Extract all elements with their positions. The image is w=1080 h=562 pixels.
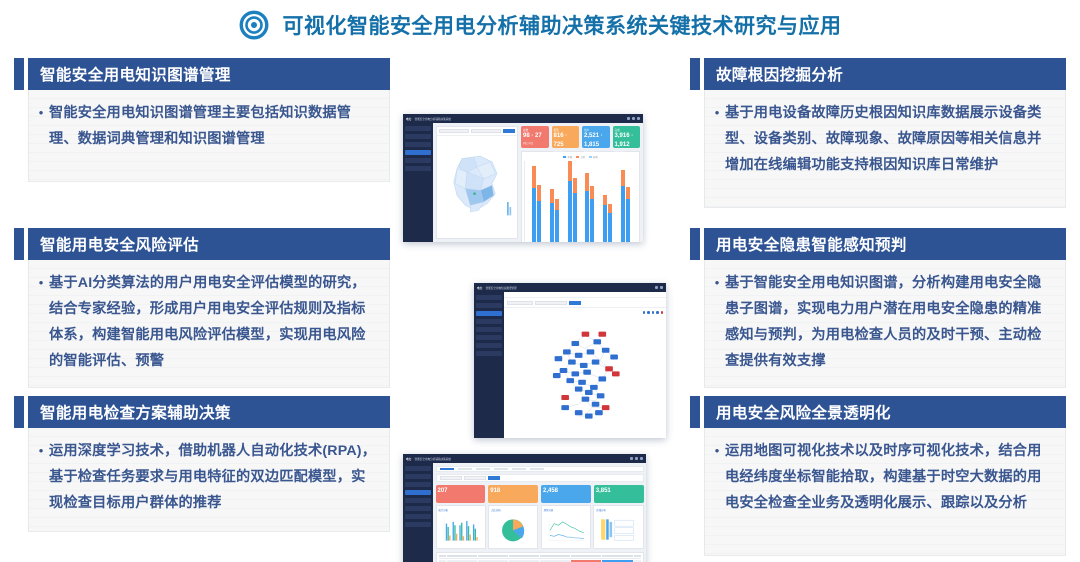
card-header: 故障根因挖掘分析 — [690, 58, 1066, 90]
kpi-sub: 同比 环比 — [523, 141, 547, 145]
card-hazard-smart-perception[interactable]: 用电安全隐患智能感知预判 • 基于智能安全用电知识图谱，分析构建用电安全隐患子图… — [690, 228, 1066, 388]
province-map[interactable] — [437, 136, 517, 238]
org-select[interactable] — [440, 476, 462, 480]
sidebar-item-5[interactable] — [405, 498, 431, 503]
sidebar-item-1[interactable] — [476, 295, 502, 300]
kpi-value: 2,521 · 1,815 — [584, 132, 608, 150]
line-chart[interactable]: 趋势分析 — [541, 505, 591, 549]
map-panel[interactable] — [436, 126, 518, 239]
bullet-icon: • — [33, 438, 49, 464]
bullet-icon: • — [33, 270, 49, 296]
card-titlebar: 用电安全风险全景透明化 — [704, 396, 1066, 428]
card-title: 用电安全隐患智能感知预判 — [716, 233, 907, 255]
grid-icon[interactable] — [655, 286, 658, 289]
card-header: 智能用电安全风险评估 — [14, 228, 390, 260]
card-title: 智能安全用电知识图谱管理 — [40, 63, 231, 85]
graph-canvas[interactable] — [504, 308, 666, 438]
kpi-value: 3,916 · 1,912 — [615, 132, 639, 150]
card-title: 智能用电检查方案辅助决策 — [40, 401, 231, 423]
card-accent-bar — [690, 58, 700, 90]
page-title: 可视化智能安全用电分析辅助决策系统关键技术研究与应用 — [283, 10, 842, 40]
legend-item-2: 上期 — [576, 155, 585, 159]
map-filter-toolbar[interactable] — [437, 127, 517, 136]
card-accent-bar — [14, 228, 24, 260]
sidebar-item-5[interactable] — [476, 327, 502, 332]
type-select[interactable] — [507, 301, 533, 305]
grid-icon[interactable] — [630, 457, 633, 460]
kpi-value: 3,851 — [596, 487, 642, 496]
chart-row: 统计分析 — [436, 505, 644, 549]
sidebar-item-7[interactable] — [405, 514, 431, 519]
kpi-card-3[interactable]: 用户 2,521 · 1,815 同比 环比 — [582, 126, 610, 148]
kpi-card-2[interactable]: 918 — [488, 485, 538, 503]
card-accent-bar — [690, 396, 700, 428]
bullet-icon: • — [33, 100, 49, 126]
period-select[interactable] — [464, 476, 486, 480]
th-6 — [602, 555, 632, 557]
bar-group — [568, 161, 577, 242]
graph-main — [504, 292, 666, 438]
card-text: 运用深度学习技术，借助机器人自动化技术(RPA)，基于检查任务要求与用电特征的双… — [49, 438, 379, 516]
card-header: 智能安全用电知识图谱管理 — [14, 58, 390, 90]
card-title: 故障根因挖掘分析 — [716, 63, 843, 85]
kpi-row: 总数 98 · 27 同比 环比 报警 816 · 725 同比 环比 — [521, 126, 640, 148]
map-dashboard-screenshot[interactable]: 电力 智能安全用电分析辅助决策系统 — [403, 114, 643, 242]
card-titlebar: 用电安全隐患智能感知预判 — [704, 228, 1066, 260]
legend-item-1: 本期 — [563, 155, 572, 159]
sidebar-item-7[interactable] — [476, 343, 502, 348]
th-1 — [447, 555, 477, 557]
target-circle-icon — [239, 10, 269, 40]
user-icon[interactable] — [632, 117, 635, 120]
dashboard-main: 207 918 2,458 3,851 — [433, 463, 646, 562]
sidebar-item-4[interactable] — [476, 319, 502, 324]
card-body: • 基于用电设备故障历史根因知识库数据展示设备类型、设备类别、故障现象、故障原因… — [704, 90, 1066, 208]
sidebar-item-1[interactable] — [405, 466, 431, 471]
legend-node-2 — [647, 311, 650, 314]
kpi-row: 207 918 2,458 3,851 — [436, 485, 644, 503]
th-4 — [540, 555, 570, 557]
th-3 — [509, 555, 539, 557]
card-title: 智能用电安全风险评估 — [40, 233, 199, 255]
page-title-row: 可视化智能安全用电分析辅助决策系统关键技术研究与应用 — [0, 0, 1080, 46]
card-titlebar: 智能用电安全风险评估 — [28, 228, 390, 260]
card-header: 智能用电检查方案辅助决策 — [14, 396, 390, 428]
region-panel[interactable]: 区域分布 — [593, 505, 643, 549]
th-index — [439, 555, 446, 557]
kpi-value: 98 · 27 — [523, 132, 547, 141]
card-title: 用电安全风险全景透明化 — [716, 401, 891, 423]
table-row[interactable] — [439, 559, 641, 562]
kpi-value: 918 — [490, 487, 536, 496]
sidebar-item-6[interactable] — [405, 506, 431, 511]
bar-group — [621, 170, 630, 242]
content-columns: 智能安全用电知识图谱管理 • 智能安全用电知识图谱管理主要包括知识数据管理、数据… — [0, 50, 1080, 562]
sidebar-item-6[interactable] — [476, 335, 502, 340]
slide-root: 可视化智能安全用电分析辅助决策系统关键技术研究与应用 智能安全用电知识图谱管理 … — [0, 0, 1080, 562]
query-button[interactable] — [503, 129, 515, 133]
chart-title: 统计分析 — [439, 508, 483, 512]
tab-bar[interactable] — [436, 466, 644, 472]
query-button[interactable] — [488, 476, 500, 480]
card-text: 智能安全用电知识图谱管理主要包括知识数据管理、数据词典管理和知识图谱管理 — [49, 100, 379, 152]
user-icon[interactable] — [635, 457, 638, 460]
card-text: 基于智能安全用电知识图谱，分析构建用电安全隐患子图谱，实现电力用户潜在用电安全隐… — [725, 270, 1055, 374]
kpi-sub: 同比 环比 — [554, 150, 578, 154]
kpi-card-1[interactable]: 总数 98 · 27 同比 环比 — [521, 126, 549, 148]
tab-1-active[interactable] — [440, 468, 454, 470]
pie-chart[interactable]: 占比分析 — [488, 505, 538, 549]
card-titlebar: 故障根因挖掘分析 — [704, 58, 1066, 90]
th-2 — [478, 555, 508, 557]
card-body: • 智能安全用电知识图谱管理主要包括知识数据管理、数据词典管理和知识图谱管理 — [28, 90, 390, 182]
card-inspection-plan-decision[interactable]: 智能用电检查方案辅助决策 • 运用深度学习技术，借助机器人自动化技术(RPA)，… — [14, 396, 390, 532]
card-body: • 基于智能安全用电知识图谱，分析构建用电安全隐患子图谱，实现电力用户潜在用电安… — [704, 260, 1066, 388]
card-accent-bar — [14, 58, 24, 90]
screenshot-body: 207 918 2,458 3,851 — [403, 463, 646, 562]
kpi-card-2[interactable]: 报警 816 · 725 同比 环比 — [552, 126, 580, 148]
th-action — [634, 555, 641, 557]
app-title: 智能安全用电知识图谱管理 — [486, 286, 517, 290]
sidebar-nav[interactable] — [474, 292, 504, 438]
user-icon[interactable] — [660, 286, 663, 289]
card-titlebar: 智能安全用电知识图谱管理 — [28, 58, 390, 90]
sidebar-item-2[interactable] — [476, 303, 502, 308]
card-body: • 基于AI分类算法的用户用电安全评估模型的研究，结合专家经验，形成用户用电安全… — [28, 260, 390, 388]
card-body: • 运用深度学习技术，借助机器人自动化技术(RPA)，基于检查任务要求与用电特征… — [28, 428, 390, 532]
grid-icon[interactable] — [627, 117, 630, 120]
card-titlebar: 智能用电检查方案辅助决策 — [28, 396, 390, 428]
kpi-card-1[interactable]: 207 — [436, 485, 486, 503]
sidebar-item-5[interactable] — [405, 158, 431, 163]
dashboard-main: 总数 98 · 27 同比 环比 报警 816 · 725 同比 环比 — [433, 123, 643, 242]
sidebar-item-3-active[interactable] — [476, 311, 502, 316]
kpi-value: 816 · 725 — [554, 132, 578, 150]
stacked-bar-chart[interactable]: 本期 上期 同期 — [521, 151, 640, 242]
legend-node-4 — [656, 311, 659, 314]
card-text: 基于用电设备故障历史根因知识库数据展示设备类型、设备类别、故障现象、故障原因等相… — [725, 100, 1055, 178]
card-text: 基于AI分类算法的用户用电安全评估模型的研究，结合专家经验，形成用户用电安全评估… — [49, 270, 379, 374]
sidebar-item-8[interactable] — [405, 522, 431, 527]
bars-plot-area — [524, 161, 637, 242]
chart-legend: 本期 上期 同期 — [524, 155, 637, 159]
legend-node-5 — [661, 311, 664, 314]
sidebar-item-6[interactable] — [405, 166, 431, 171]
titlebar-actions[interactable] — [627, 117, 640, 120]
tab-4[interactable] — [494, 468, 508, 470]
app-logo: 电力 — [406, 117, 412, 121]
bar-group — [532, 166, 541, 242]
pie-graphic — [491, 513, 535, 546]
region-select[interactable] — [439, 129, 469, 133]
legend-node-1 — [643, 311, 646, 314]
tab-2[interactable] — [458, 468, 472, 470]
bar-group — [603, 195, 612, 242]
kpi-value: 207 — [438, 487, 484, 496]
app-logo: 电力 — [406, 457, 412, 461]
titlebar-actions[interactable] — [655, 286, 663, 289]
card-header: 用电安全风险全景透明化 — [690, 396, 1066, 428]
sidebar-item-1[interactable] — [405, 126, 431, 131]
date-select[interactable] — [471, 129, 501, 133]
kpi-sub: 同比 环比 — [584, 150, 608, 154]
kpi-value: 2,458 — [543, 487, 589, 496]
app-title: 智能安全用电分析辅助决策系统 — [415, 457, 451, 461]
app-title: 智能安全用电分析辅助决策系统 — [415, 117, 451, 121]
bar-graphic — [439, 513, 483, 546]
card-knowledge-graph-management[interactable]: 智能安全用电知识图谱管理 • 智能安全用电知识图谱管理主要包括知识数据管理、数据… — [14, 58, 390, 182]
graph-legend — [643, 311, 664, 314]
kpi-card-4[interactable]: 3,851 — [594, 485, 644, 503]
kpi-sub: 同比 环比 — [615, 150, 639, 154]
app-logo: 电力 — [477, 286, 483, 290]
analysis-dashboard-screenshot[interactable]: 电力 智能安全用电分析辅助决策系统 — [403, 454, 646, 562]
line-graphic — [544, 513, 588, 546]
card-fault-root-cause-mining[interactable]: 故障根因挖掘分析 • 基于用电设备故障历史根因知识库数据展示设备类型、设备类别、… — [690, 58, 1066, 208]
sidebar-item-3[interactable] — [405, 482, 431, 487]
card-accent-bar — [690, 228, 700, 260]
data-table[interactable] — [436, 552, 644, 562]
sidebar-item-4-active[interactable] — [405, 490, 431, 495]
bar-group — [550, 189, 559, 242]
screenshot-titlebar: 电力 智能安全用电分析辅助决策系统 — [403, 454, 646, 463]
kpi-card-4[interactable]: 完成 3,916 · 1,912 同比 环比 — [613, 126, 641, 148]
sidebar-nav[interactable] — [403, 123, 433, 242]
kpi-card-3[interactable]: 2,458 — [541, 485, 591, 503]
region-graphic — [596, 513, 640, 546]
legend-node-3 — [652, 311, 655, 314]
bar-group — [585, 173, 594, 242]
card-text: 运用地图可视化技术以及时序可视化技术，结合用电经纬度坐标智能拾取，构建基于时空大… — [725, 438, 1055, 516]
grouped-bar-chart[interactable]: 统计分析 — [436, 505, 486, 549]
screenshot-body — [474, 292, 666, 438]
sidebar-item-2[interactable] — [405, 134, 431, 139]
card-risk-panorama-transparency[interactable]: 用电安全风险全景透明化 • 运用地图可视化技术以及时序可视化技术，结合用电经纬度… — [690, 396, 1066, 556]
card-body: • 运用地图可视化技术以及时序可视化技术，结合用电经纬度坐标智能拾取，构建基于时… — [704, 428, 1066, 556]
card-accent-bar — [14, 396, 24, 428]
screenshot-body: 总数 98 · 27 同比 环比 报警 816 · 725 同比 环比 — [403, 123, 643, 242]
bullet-icon: • — [709, 438, 725, 464]
sidebar-item-8[interactable] — [476, 351, 502, 356]
th-5 — [571, 555, 601, 557]
screenshot-titlebar: 电力 智能安全用电知识图谱管理 — [474, 283, 666, 292]
filter-bar[interactable] — [436, 474, 644, 482]
chart-title: 占比分析 — [491, 508, 535, 512]
tab-5[interactable] — [512, 468, 526, 470]
tab-3[interactable] — [476, 468, 490, 470]
card-header: 用电安全隐患智能感知预判 — [690, 228, 1066, 260]
tab-6[interactable] — [530, 468, 544, 470]
bullet-icon: • — [709, 100, 725, 126]
bullet-icon: • — [709, 270, 725, 296]
knowledge-graph-screenshot[interactable]: 电力 智能安全用电知识图谱管理 — [474, 283, 666, 438]
sidebar-nav[interactable] — [403, 463, 433, 562]
card-risk-assessment[interactable]: 智能用电安全风险评估 • 基于AI分类算法的用户用电安全评估模型的研究，结合专家… — [14, 228, 390, 388]
graph-filter-bar[interactable] — [504, 298, 666, 308]
legend-item-3: 同期 — [589, 155, 598, 159]
logout-icon[interactable] — [640, 457, 643, 460]
logout-icon[interactable] — [637, 117, 640, 120]
sidebar-item-2[interactable] — [405, 474, 431, 479]
search-button[interactable] — [569, 301, 581, 305]
titlebar-actions[interactable] — [630, 457, 643, 460]
keyword-input[interactable] — [535, 301, 567, 305]
screenshot-titlebar: 电力 智能安全用电分析辅助决策系统 — [403, 114, 643, 123]
chart-title: 区域分布 — [596, 508, 640, 512]
chart-title: 趋势分析 — [544, 508, 588, 512]
sidebar-item-4-active[interactable] — [405, 150, 431, 155]
sidebar-item-3[interactable] — [405, 142, 431, 147]
